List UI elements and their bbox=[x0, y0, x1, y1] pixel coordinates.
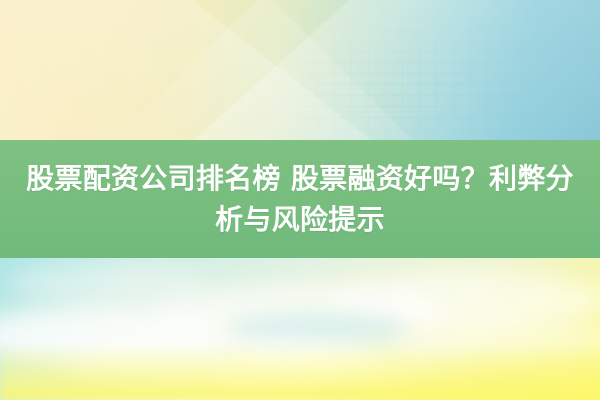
faint-grid-texture bbox=[300, 10, 550, 140]
yellow-base-gradient bbox=[0, 344, 600, 400]
bottom-gradient-section bbox=[0, 258, 600, 400]
top-gradient-section bbox=[0, 0, 600, 141]
article-banner: 股票配资公司排名榜 股票融资好吗？利弊分析与风险提示 bbox=[0, 0, 600, 400]
title-band: 股票配资公司排名榜 股票融资好吗？利弊分析与风险提示 bbox=[0, 140, 600, 258]
page-title: 股票配资公司排名榜 股票融资好吗？利弊分析与风险提示 bbox=[18, 158, 582, 240]
